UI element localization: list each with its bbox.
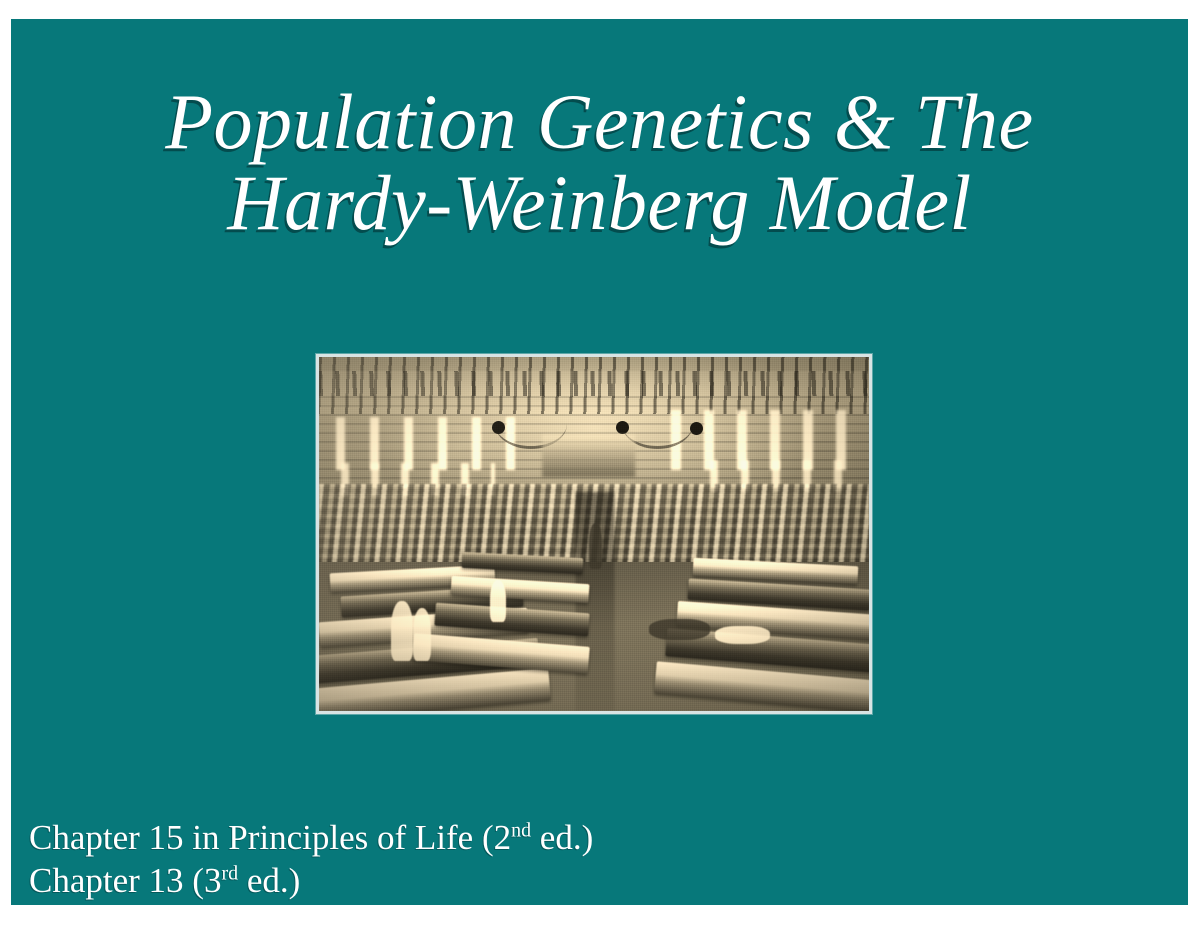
slide-canvas: Population Genetics & The Hardy-Weinberg… [11, 19, 1188, 905]
chapter-ref-2-ordinal: rd [221, 862, 238, 884]
chapter-reference-line-1: Chapter 15 in Principles of Life (2nd ed… [29, 817, 929, 860]
chapter-reference: Chapter 15 in Principles of Life (2nd ed… [29, 817, 929, 902]
slide-title: Population Genetics & The Hardy-Weinberg… [11, 81, 1188, 243]
chapter-ref-1-suffix: ed.) [531, 818, 593, 857]
chapter-reference-line-2: Chapter 13 (3rd ed.) [29, 860, 929, 903]
chapter-ref-1-ordinal: nd [511, 819, 531, 841]
title-line-2: Hardy-Weinberg Model [11, 162, 1188, 243]
chapter-ref-2-prefix: Chapter 13 (3 [29, 861, 221, 900]
photo-vignette [319, 357, 869, 711]
chapter-ref-2-suffix: ed.) [238, 861, 300, 900]
emergency-hospital-1918-influenza-photograph [319, 357, 869, 711]
title-line-1: Population Genetics & The [11, 81, 1188, 162]
slide-image-frame [316, 354, 872, 714]
chapter-ref-1-prefix: Chapter 15 in Principles of Life (2 [29, 818, 511, 857]
